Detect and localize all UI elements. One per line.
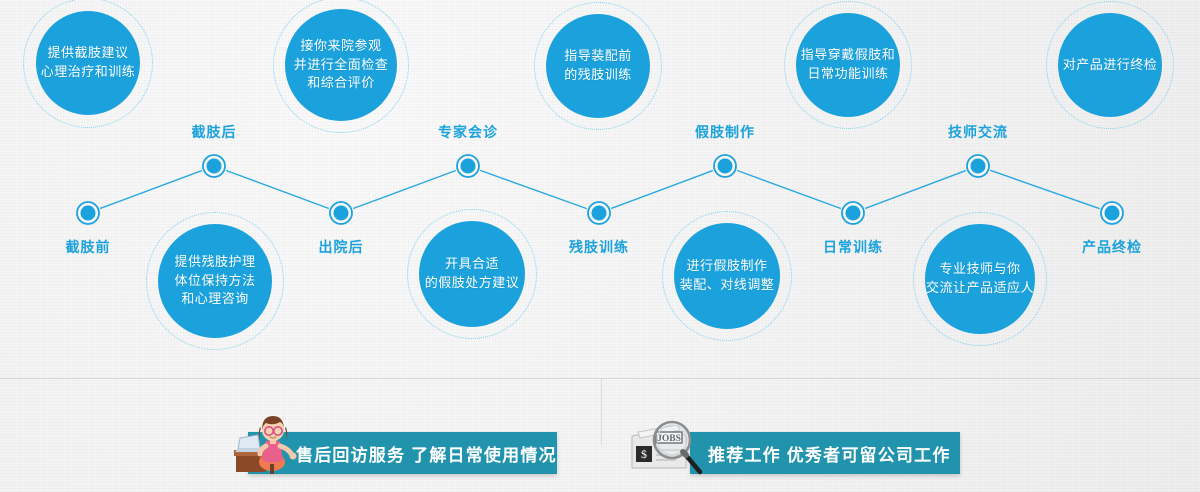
node-label-prosthesis-making: 假肢制作 <box>695 122 755 142</box>
timeline-node-post-amputation[interactable] <box>203 155 225 177</box>
connector-line <box>226 171 329 209</box>
node-dot <box>207 159 222 174</box>
bubble-post-amputation[interactable]: 接你来院参观 并进行全面检查 和综合评价 <box>285 9 397 121</box>
connector-line <box>353 171 456 209</box>
node-label-daily-training: 日常训练 <box>823 237 883 257</box>
timeline-node-technician-exchange[interactable] <box>967 155 989 177</box>
timeline-node-final-inspection[interactable] <box>1101 202 1123 224</box>
banner-job-referral-label: 推荐工作 优秀者可留公司工作 <box>708 441 951 466</box>
bubble-pre-amputation[interactable]: 提供截肢建议 心理治疗和训练 <box>36 11 140 115</box>
node-dot <box>334 206 349 221</box>
timeline-node-stump-training[interactable] <box>588 202 610 224</box>
node-label-technician-exchange: 技师交流 <box>948 122 1008 142</box>
connector-line <box>480 170 587 208</box>
page-root: 提供截肢建议 心理治疗和训练接你来院参观 并进行全面检查 和综合评价指导装配前 … <box>0 0 1200 492</box>
node-dot <box>81 206 96 221</box>
node-label-final-inspection: 产品终检 <box>1082 237 1142 257</box>
node-dot <box>461 159 476 174</box>
node-dot <box>971 159 986 174</box>
node-dot <box>592 206 607 221</box>
timeline-node-prosthesis-making[interactable] <box>714 155 736 177</box>
node-markers <box>77 155 1123 224</box>
node-dot <box>718 159 733 174</box>
bubble-final-inspection[interactable]: 对产品进行终检 <box>1058 13 1162 117</box>
node-dot <box>1105 206 1120 221</box>
bubble-prescription[interactable]: 开具合适 的假肢处方建议 <box>419 221 525 327</box>
bubble-assembly[interactable]: 进行假肢制作 装配、对线调整 <box>674 223 780 329</box>
banner-job-referral[interactable]: 推荐工作 优秀者可留公司工作 <box>690 432 960 474</box>
woman-at-desk-icon <box>232 414 302 476</box>
connector-line <box>100 171 202 209</box>
node-label-pre-amputation: 截肢前 <box>66 237 111 257</box>
bubble-stump-care[interactable]: 提供残肢护理 体位保持方法 和心理咨询 <box>158 224 272 338</box>
node-label-post-discharge: 出院后 <box>319 237 364 257</box>
banner-after-sales-label: 售后回访服务 了解日常使用情况 <box>296 441 557 466</box>
svg-text:$: $ <box>641 447 647 461</box>
node-dot <box>846 206 861 221</box>
connector-line <box>737 170 841 208</box>
timeline-node-pre-amputation[interactable] <box>77 202 99 224</box>
timeline-node-expert-consultation[interactable] <box>457 155 479 177</box>
bubble-stump-training-pre[interactable]: 指导装配前 的残肢训练 <box>546 14 650 118</box>
timeline-node-post-discharge[interactable] <box>330 202 352 224</box>
timeline-node-daily-training[interactable] <box>842 202 864 224</box>
node-label-stump-training: 残肢训练 <box>569 237 629 257</box>
bubble-prosthesis-wear[interactable]: 指导穿戴假肢和 日常功能训练 <box>796 13 900 117</box>
bubble-technician[interactable]: 专业技师与你 交流让产品适应人 <box>925 224 1035 334</box>
vertical-divider <box>601 379 602 445</box>
node-label-expert-consultation: 专家会诊 <box>438 122 498 142</box>
connector-line <box>611 171 713 209</box>
connector-line <box>990 170 1099 208</box>
node-label-post-amputation: 截肢后 <box>192 122 237 142</box>
jobs-magnifier-icon: $ JOBS <box>628 418 716 478</box>
connector-line <box>865 171 966 209</box>
horizontal-divider <box>0 378 1200 379</box>
